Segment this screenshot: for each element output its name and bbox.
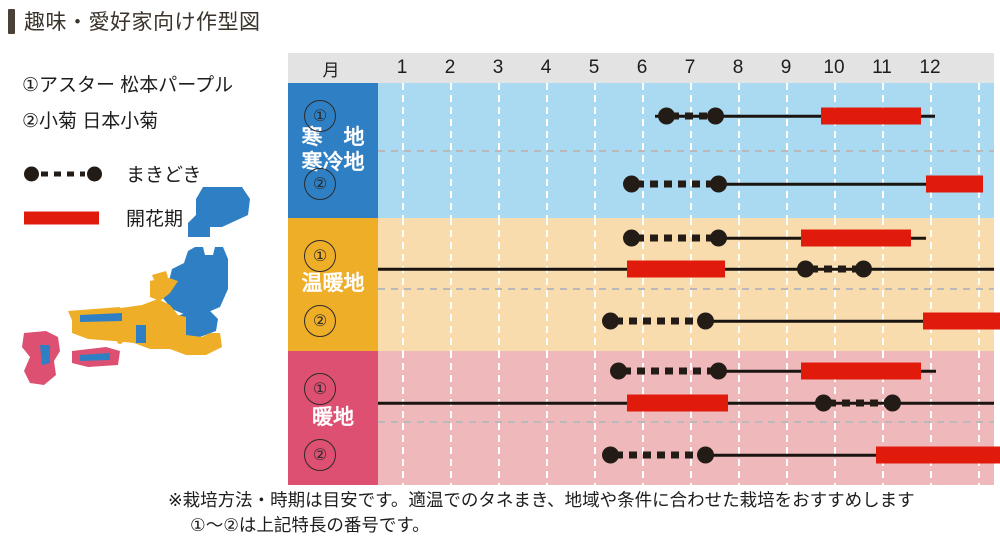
sowing-period-warm-1b [815,394,901,412]
footnote-line-2: ①〜②は上記特長の番号です。 [168,513,996,538]
region-label-cold: 寒 地 寒冷地 [288,83,378,218]
map-region-kyushu [22,331,60,385]
month-tick-1: 1 [378,53,426,83]
variety-item-2: ②小菊 日本小菊 [22,106,233,133]
map-small-island [117,338,123,344]
map-inner-detail-2 [136,325,146,343]
variety-item-1: ①アスター 松本パープル [22,70,233,97]
dotted-line-with-dots-icon [24,164,102,184]
month-tick-5: 5 [570,53,618,83]
footnote-line-1: ※栽培方法・時期は目安です。適温でのタネまき、地域や条件に合わせた栽培をおすすめ… [168,488,996,513]
month-tick-11: 11 [858,53,906,83]
month-header-label: 月 [288,53,378,83]
region-block-warm: 暖地 ① [288,351,994,485]
map-region-hokkaido [188,187,250,237]
month-tick-7: 7 [666,53,714,83]
row-number-warm-2: ② [304,439,336,471]
month-tick-4: 4 [522,53,570,83]
row-number-cold-2: ② [304,168,336,200]
region-label-temperate: 温暖地 [288,218,378,351]
region-block-temperate: 温暖地 ① [288,218,994,351]
legend-label-sowing: まきどき [126,160,201,187]
title-accent-bar [8,9,15,34]
month-tick-3: 3 [474,53,522,83]
blooming-bar-temperate-1b [627,261,725,278]
month-tick-2: 2 [426,53,474,83]
legend-item-sowing: まきどき [24,160,201,187]
sowing-period-temperate-1b [797,260,872,278]
row-number-temperate-2: ② [304,305,336,337]
blooming-bar-warm-1b [627,395,728,412]
region-field-temperate: ① ② [378,218,994,351]
sowing-period-warm-1a [610,362,727,380]
footnote: ※栽培方法・時期は目安です。適温でのタネまき、地域や条件に合わせた栽培をおすすめ… [168,488,996,539]
japan-map-svg [10,185,280,400]
japan-map [10,185,280,400]
region-field-warm: ① ② [378,351,994,485]
region-label-warm-line1: 暖地 [312,406,354,431]
row-number-warm-1: ① [304,373,336,405]
month-tick-9: 9 [762,53,810,83]
month-tick-6: 6 [618,53,666,83]
blooming-bar-temperate-2 [923,313,1000,330]
region-field-cold: ① ② [378,83,994,218]
region-label-warm: 暖地 [288,351,378,485]
blooming-bar-warm-2 [876,447,1000,464]
region-block-cold: 寒 地 寒冷地 ① ② [288,83,994,218]
blooming-bar-cold-2 [926,176,983,193]
row-number-temperate-1: ① [304,240,336,272]
chart-grid-body: 寒 地 寒冷地 ① ② [288,83,994,485]
month-tick-12: 12 [906,53,954,83]
blooming-bar-cold-1 [821,108,921,125]
page-title-text: 趣味・愛好家向け作型図 [24,6,261,36]
month-tick-8: 8 [714,53,762,83]
sowing-period-temperate-2 [602,312,714,330]
sowing-period-cold-1 [658,107,724,125]
blooming-bar-warm-1a [801,363,921,380]
region-label-temperate-line1: 温暖地 [302,272,365,297]
month-tick-10: 10 [810,53,858,83]
month-header-row: 月 1 2 3 4 5 6 7 8 9 10 11 12 [288,53,994,83]
blooming-bar-temperate-1a [801,230,911,247]
crop-calendar-chart: 月 1 2 3 4 5 6 7 8 9 10 11 12 寒 地 寒冷地 [288,53,994,485]
sowing-period-warm-2 [602,446,714,464]
row-number-cold-1: ① [304,100,336,132]
variety-list: ①アスター 松本パープル ②小菊 日本小菊 [22,70,233,142]
sowing-period-temperate-1a [623,229,727,247]
sowing-period-cold-2 [623,175,727,193]
page-title: 趣味・愛好家向け作型図 [8,6,261,36]
